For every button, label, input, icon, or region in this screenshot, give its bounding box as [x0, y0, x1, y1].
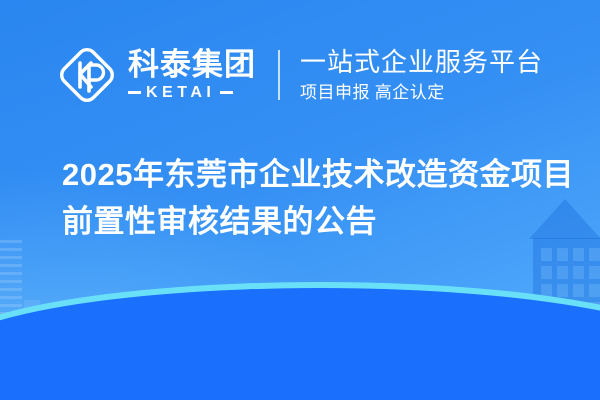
announcement-banner: 科泰集团 KETAI 一站式企业服务平台 项目申报 高企认定 2025年东莞市企…	[0, 0, 600, 400]
header-divider	[278, 50, 280, 100]
brand-name-en-row: KETAI	[128, 85, 256, 101]
brand-wordmark: 科泰集团 KETAI	[128, 49, 256, 100]
ground-fill	[0, 288, 600, 400]
brand-tagline: 一站式企业服务平台 项目申报 高企认定	[300, 47, 543, 103]
dash-right-icon	[220, 91, 233, 94]
brand-name-en: KETAI	[146, 85, 215, 101]
dash-left-icon	[128, 91, 141, 94]
curved-ground-band	[0, 270, 600, 400]
brand-logo[interactable]: 科泰集团 KETAI	[56, 44, 256, 106]
brand-name-cn: 科泰集团	[128, 49, 256, 81]
window	[557, 248, 568, 261]
window	[589, 248, 600, 261]
ketai-diamond-monogram-icon	[56, 44, 118, 106]
tagline-secondary: 项目申报 高企认定	[300, 82, 543, 103]
banner-header: 科泰集团 KETAI 一站式企业服务平台 项目申报 高企认定	[0, 34, 600, 116]
window	[541, 248, 552, 261]
announcement-title: 2025年东莞市企业技术改造资金项目前置性审核结果的公告	[62, 152, 578, 245]
window	[573, 248, 584, 261]
tagline-primary: 一站式企业服务平台	[300, 47, 543, 78]
